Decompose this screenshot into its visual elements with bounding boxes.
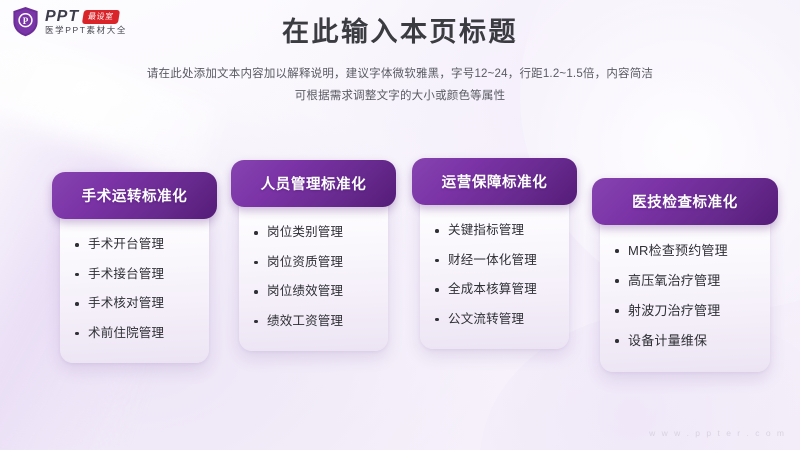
subtitle-line-1: 请在此处添加文本内容加以解释说明，建议字体微软雅黑，字号12~24，行距1.2~… xyxy=(0,63,800,85)
list-item: MR检查预约管理 xyxy=(614,242,770,259)
brand-logo[interactable]: P PPT 最设室 医学PPT素材大全 xyxy=(12,6,127,37)
card-header[interactable]: 运营保障标准化 xyxy=(412,158,577,205)
card-item-list: 手术开台管理 手术接台管理 手术核对管理 术前住院管理 xyxy=(74,236,209,341)
list-item: 绩效工资管理 xyxy=(253,313,388,330)
list-item: 财经一体化管理 xyxy=(434,252,569,269)
subtitle-line-2: 可根据需求调整文字的大小或颜色等属性 xyxy=(0,85,800,107)
logo-tagline: 医学PPT素材大全 xyxy=(45,26,127,35)
card-header[interactable]: 医技检查标准化 xyxy=(592,178,778,225)
list-item: 岗位绩效管理 xyxy=(253,283,388,300)
list-item: 全成本核算管理 xyxy=(434,281,569,298)
card-operations-support[interactable]: 运营保障标准化 关键指标管理 财经一体化管理 全成本核算管理 公文流转管理 xyxy=(412,158,577,349)
svg-text:P: P xyxy=(23,16,29,26)
card-surgery-operations[interactable]: 手术运转标准化 手术开台管理 手术接台管理 手术核对管理 术前住院管理 xyxy=(52,172,217,363)
list-item: 手术接台管理 xyxy=(74,266,209,283)
card-personnel-management[interactable]: 人员管理标准化 岗位类别管理 岗位资质管理 岗位绩效管理 绩效工资管理 xyxy=(231,160,396,351)
card-medical-technology-exam[interactable]: 医技检查标准化 MR检查预约管理 高压氧治疗管理 射波刀治疗管理 设备计量维保 xyxy=(592,178,778,372)
list-item: 手术核对管理 xyxy=(74,295,209,312)
card-body: 关键指标管理 财经一体化管理 全成本核算管理 公文流转管理 xyxy=(420,191,569,349)
card-item-list: 关键指标管理 财经一体化管理 全成本核算管理 公文流转管理 xyxy=(434,222,569,327)
list-item: 公文流转管理 xyxy=(434,311,569,328)
card-header[interactable]: 手术运转标准化 xyxy=(52,172,217,219)
card-title: 人员管理标准化 xyxy=(261,173,367,194)
card-item-list: MR检查预约管理 高压氧治疗管理 射波刀治疗管理 设备计量维保 xyxy=(614,242,770,350)
site-watermark: w w w . p p t e r . c o m xyxy=(649,428,786,438)
card-body: 岗位类别管理 岗位资质管理 岗位绩效管理 绩效工资管理 xyxy=(239,193,388,351)
list-item: 射波刀治疗管理 xyxy=(614,302,770,319)
list-item: 岗位类别管理 xyxy=(253,224,388,241)
page-subtitle: 请在此处添加文本内容加以解释说明，建议字体微软雅黑，字号12~24，行距1.2~… xyxy=(0,63,800,108)
logo-brand-text: PPT xyxy=(45,9,79,25)
shield-icon: P xyxy=(12,6,39,37)
list-item: 手术开台管理 xyxy=(74,236,209,253)
card-title: 运营保障标准化 xyxy=(442,171,548,192)
list-item: 设备计量维保 xyxy=(614,332,770,349)
card-header[interactable]: 人员管理标准化 xyxy=(231,160,396,207)
list-item: 关键指标管理 xyxy=(434,222,569,239)
logo-badge: 最设室 xyxy=(82,10,120,24)
card-title: 手术运转标准化 xyxy=(82,185,188,206)
list-item: 高压氧治疗管理 xyxy=(614,272,770,289)
card-title: 医技检查标准化 xyxy=(632,191,738,212)
card-body: 手术开台管理 手术接台管理 手术核对管理 术前住院管理 xyxy=(60,205,209,363)
list-item: 术前住院管理 xyxy=(74,325,209,342)
card-body: MR检查预约管理 高压氧治疗管理 射波刀治疗管理 设备计量维保 xyxy=(600,211,770,372)
list-item: 岗位资质管理 xyxy=(253,254,388,271)
card-item-list: 岗位类别管理 岗位资质管理 岗位绩效管理 绩效工资管理 xyxy=(253,224,388,329)
